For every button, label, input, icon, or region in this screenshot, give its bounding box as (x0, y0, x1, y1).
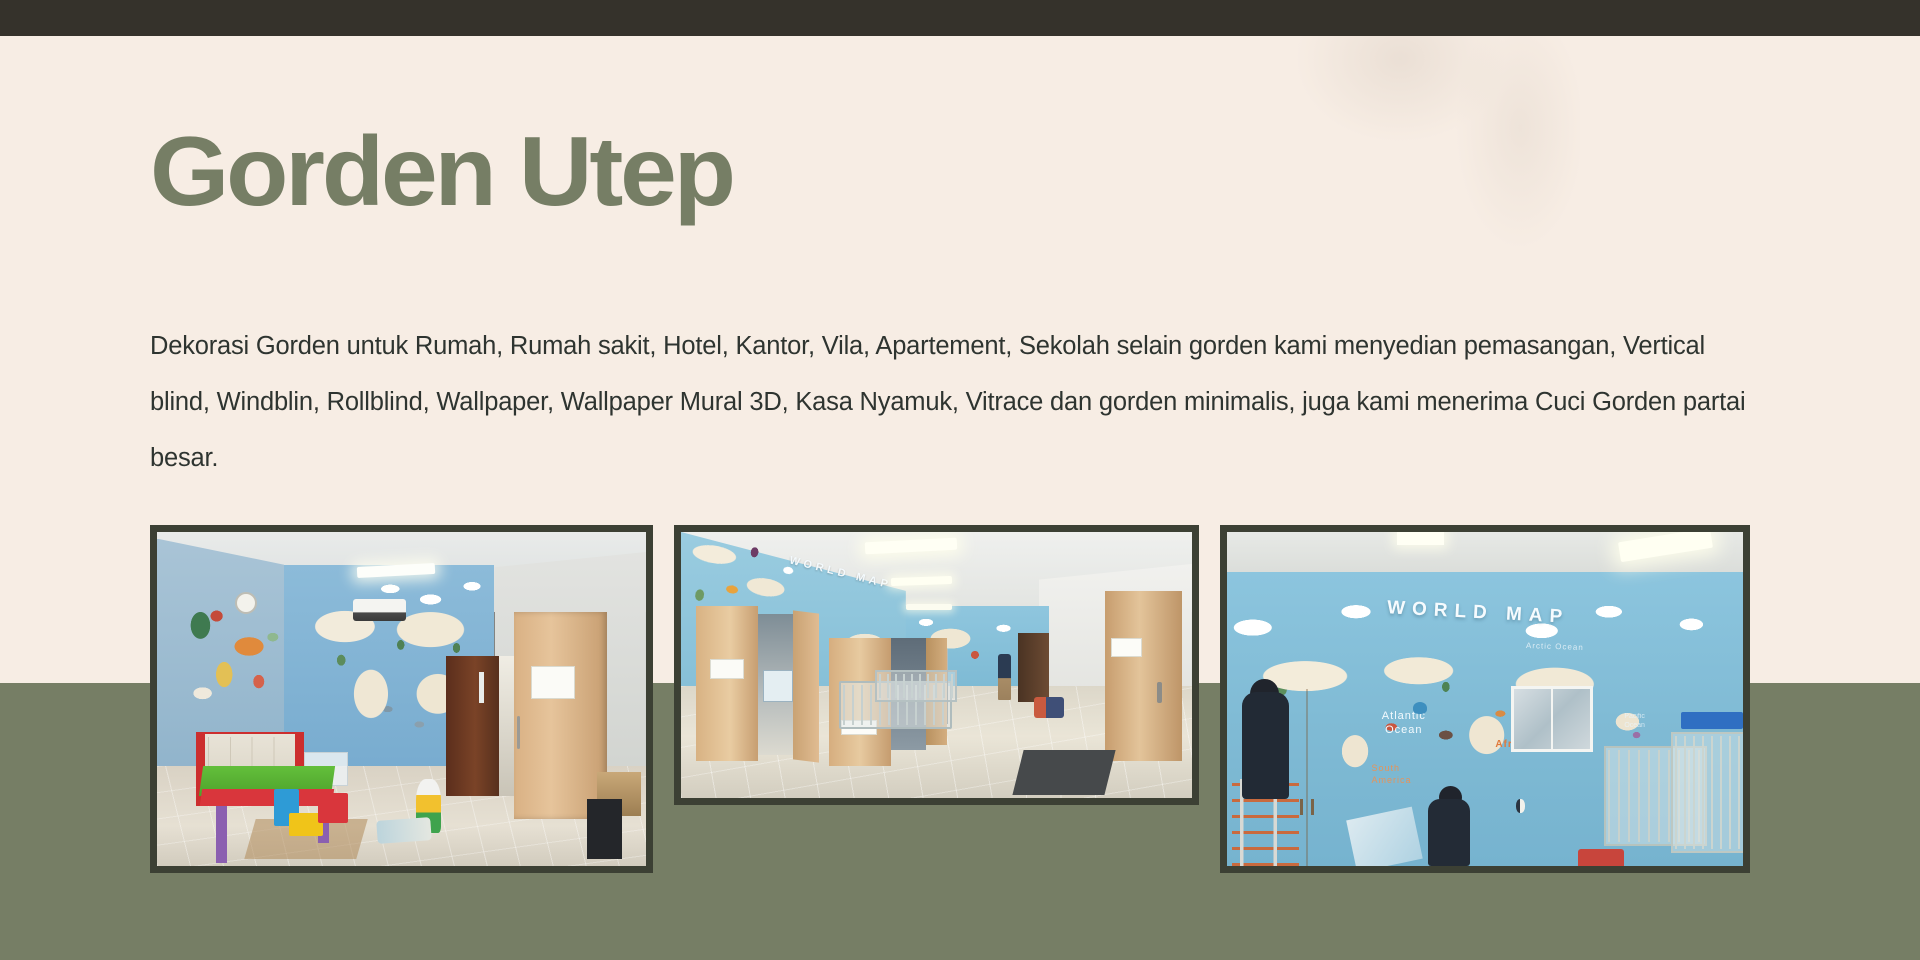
dark-wood-door (446, 656, 500, 796)
air-conditioner-icon (353, 599, 407, 621)
person-standing (998, 654, 1011, 699)
photo-playroom-content (157, 532, 646, 866)
cabinet-handle-icon (1300, 799, 1303, 815)
entry-floor-mat (1013, 750, 1116, 795)
penguin-decal-icon (1516, 799, 1525, 813)
red-item (1578, 849, 1624, 866)
worker-on-ladder (1242, 692, 1288, 799)
door-handle-icon (1157, 682, 1162, 702)
worker-crouching (1428, 799, 1469, 866)
doorway-gap (499, 656, 515, 796)
dark-doorway-far (1018, 633, 1049, 702)
dark-object (587, 799, 621, 859)
gallery-photo-hospital-corridor[interactable]: WORLD MAP (674, 525, 1199, 805)
hospital-crib-back (875, 670, 957, 702)
red-kids-chair (318, 793, 347, 823)
red-play-bench (200, 789, 334, 806)
mural-label-south-america-line2: America (1371, 774, 1411, 786)
photo-gallery: WORLD MAP (150, 525, 1770, 875)
page-description: Dekorasi Gorden untuk Rumah, Rumah sakit… (150, 318, 1770, 486)
slide-canvas: Gorden Utep Dekorasi Gorden untuk Rumah,… (0, 0, 1920, 960)
gallery-photo-installation[interactable]: WORLD MAP Arctic Ocean Atlantic Ocean Af… (1220, 525, 1750, 873)
interior-window (1511, 686, 1594, 753)
octopus-decal-icon (1413, 702, 1427, 714)
mural-label-pacific-line2: Ocean (1624, 721, 1645, 730)
mural-label-pacific-line1: Pacific (1624, 712, 1645, 721)
iv-pole-icon (947, 649, 949, 723)
mural-label-atlantic-line2: Ocean (1382, 723, 1426, 737)
mural-label-south-america: South America (1371, 762, 1411, 786)
door-sign (710, 659, 744, 679)
wood-door-right (1105, 591, 1182, 761)
cabinet-seam (1306, 689, 1308, 866)
hospital-crib-right (1671, 732, 1743, 852)
cabinet-handle-icon (1311, 799, 1314, 815)
photo-corridor-content: WORLD MAP (681, 532, 1192, 798)
door-handle-icon (517, 716, 521, 749)
world-map-mural-left (181, 602, 289, 719)
mural-label-south-america-line1: South (1371, 762, 1411, 774)
ceiling-light-icon (906, 604, 952, 610)
wood-door-left (696, 606, 757, 760)
ceiling-light-icon (1397, 532, 1443, 545)
wood-door-left-open-leaf (793, 610, 819, 762)
page-title: Gorden Utep (150, 122, 733, 220)
light-wood-door (514, 612, 607, 819)
blue-mattress (1681, 712, 1743, 729)
door-sign (531, 666, 576, 699)
door-sign (1111, 638, 1142, 657)
table-leg-front (216, 806, 228, 863)
gallery-photo-playroom[interactable] (150, 525, 653, 873)
supply-bags (1034, 697, 1065, 718)
photo-installation-content: WORLD MAP Arctic Ocean Atlantic Ocean Af… (1227, 532, 1743, 866)
top-bar (0, 0, 1920, 36)
patient-bed-in-room (763, 670, 794, 702)
mural-label-pacific-ocean: Pacific Ocean (1624, 712, 1645, 730)
play-rug (376, 817, 431, 844)
